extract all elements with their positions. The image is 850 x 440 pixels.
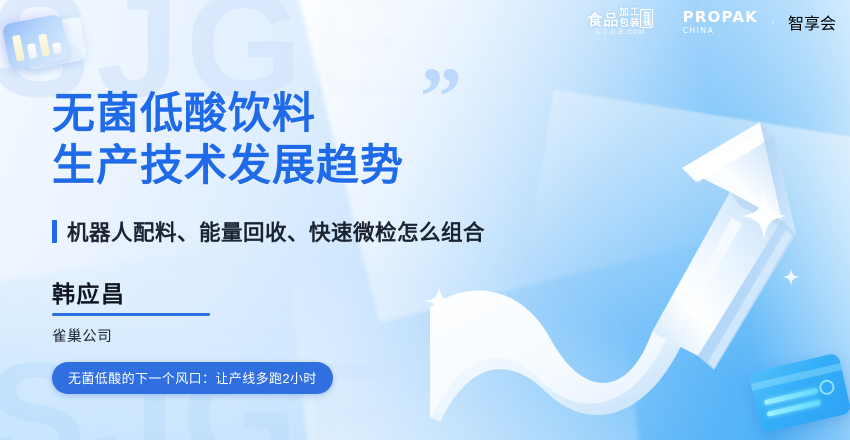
sjge-char-4: 工 (630, 8, 640, 18)
sjge-domain: S.J.G.E.COM (596, 29, 646, 36)
sjge-char-3: 加 (619, 8, 629, 18)
sjge-char-6: 装 (630, 19, 640, 29)
sjge-char-1: 食 (587, 13, 602, 28)
sjge-boxed-text: 在线 (640, 9, 653, 28)
zhixianghui-logo: 智享会 (788, 10, 836, 34)
propak-logo[interactable]: PROPAK CHINA (683, 10, 758, 35)
speaker-company: 雀巢公司 (52, 325, 112, 346)
presentation-banner: SJGE SJGE (0, 0, 850, 440)
sjge-logo[interactable]: 食 品 加 包 工 装 在线 S.J.G.E.COM (587, 8, 653, 36)
sjge-char-2: 品 (603, 13, 618, 28)
logo-dot-separator: · (771, 15, 775, 29)
content-layer: 无菌低酸饮料 生产技术发展趋势 机器人配料、能量回收、快速微检怎么组合 韩应昌 … (0, 0, 850, 440)
speaker-name: 韩应昌 (52, 275, 126, 309)
subtitle-row: 机器人配料、能量回收、快速微检怎么组合 (52, 216, 485, 247)
propak-subtitle: CHINA (683, 27, 758, 35)
tagline-badge: 无菌低酸的下一个风口：让产线多跑2小时 (52, 362, 333, 394)
speaker-divider (52, 313, 210, 316)
page-title: 无菌低酸饮料 生产技术发展趋势 (52, 88, 404, 193)
sjge-char-5: 包 (619, 19, 629, 29)
logo-separator-dot (666, 15, 669, 29)
subtitle-text: 机器人配料、能量回收、快速微检怎么组合 (67, 216, 485, 247)
subtitle-accent-bar (52, 220, 57, 243)
logo-bar: 食 品 加 包 工 装 在线 S.J.G.E.COM PROPAK CHINA … (587, 8, 836, 36)
propak-title: PROPAK (683, 10, 758, 25)
